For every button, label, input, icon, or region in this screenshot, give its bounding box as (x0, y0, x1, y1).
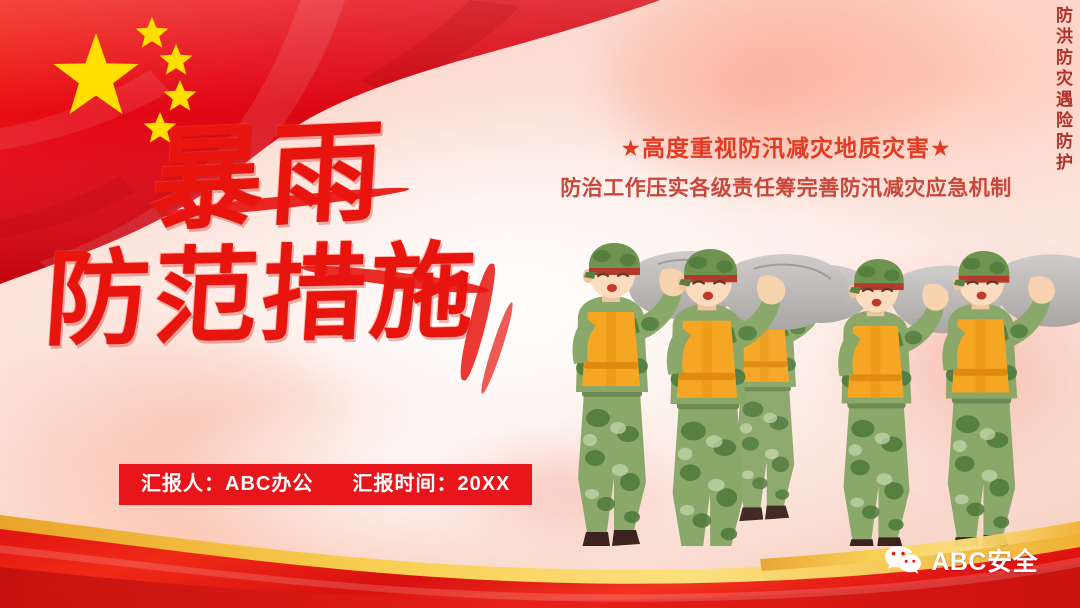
poster-slide: 防洪防灾遇险防护 ★高度重视防汛减灾地质灾害★ 防治工作压实各级责任筹完善防汛减… (0, 0, 1080, 608)
headline-secondary: 防治工作压实各级责任筹完善防汛减灾应急机制 (528, 176, 1044, 202)
title-line-2: 防范措施 (42, 239, 563, 350)
presenter-label: 汇报人：ABC办公 (141, 473, 313, 495)
title-line-1: 暴雨 (148, 110, 564, 235)
brand-name: ABC安全 (931, 542, 1038, 578)
date-label: 汇报时间：20XX (352, 473, 510, 495)
vertical-slogan: 防洪防灾遇险防护 (1052, 6, 1072, 174)
page-title: 暴雨 防范措施 (36, 128, 556, 349)
headline-group: ★高度重视防汛减灾地质灾害★ 防治工作压实各级责任筹完善防汛减灾应急机制 (528, 134, 1044, 202)
brand-logo: ABC安全 (884, 542, 1038, 578)
wechat-icon (884, 545, 922, 575)
headline-primary: ★高度重视防汛减灾地质灾害★ (528, 134, 1044, 163)
